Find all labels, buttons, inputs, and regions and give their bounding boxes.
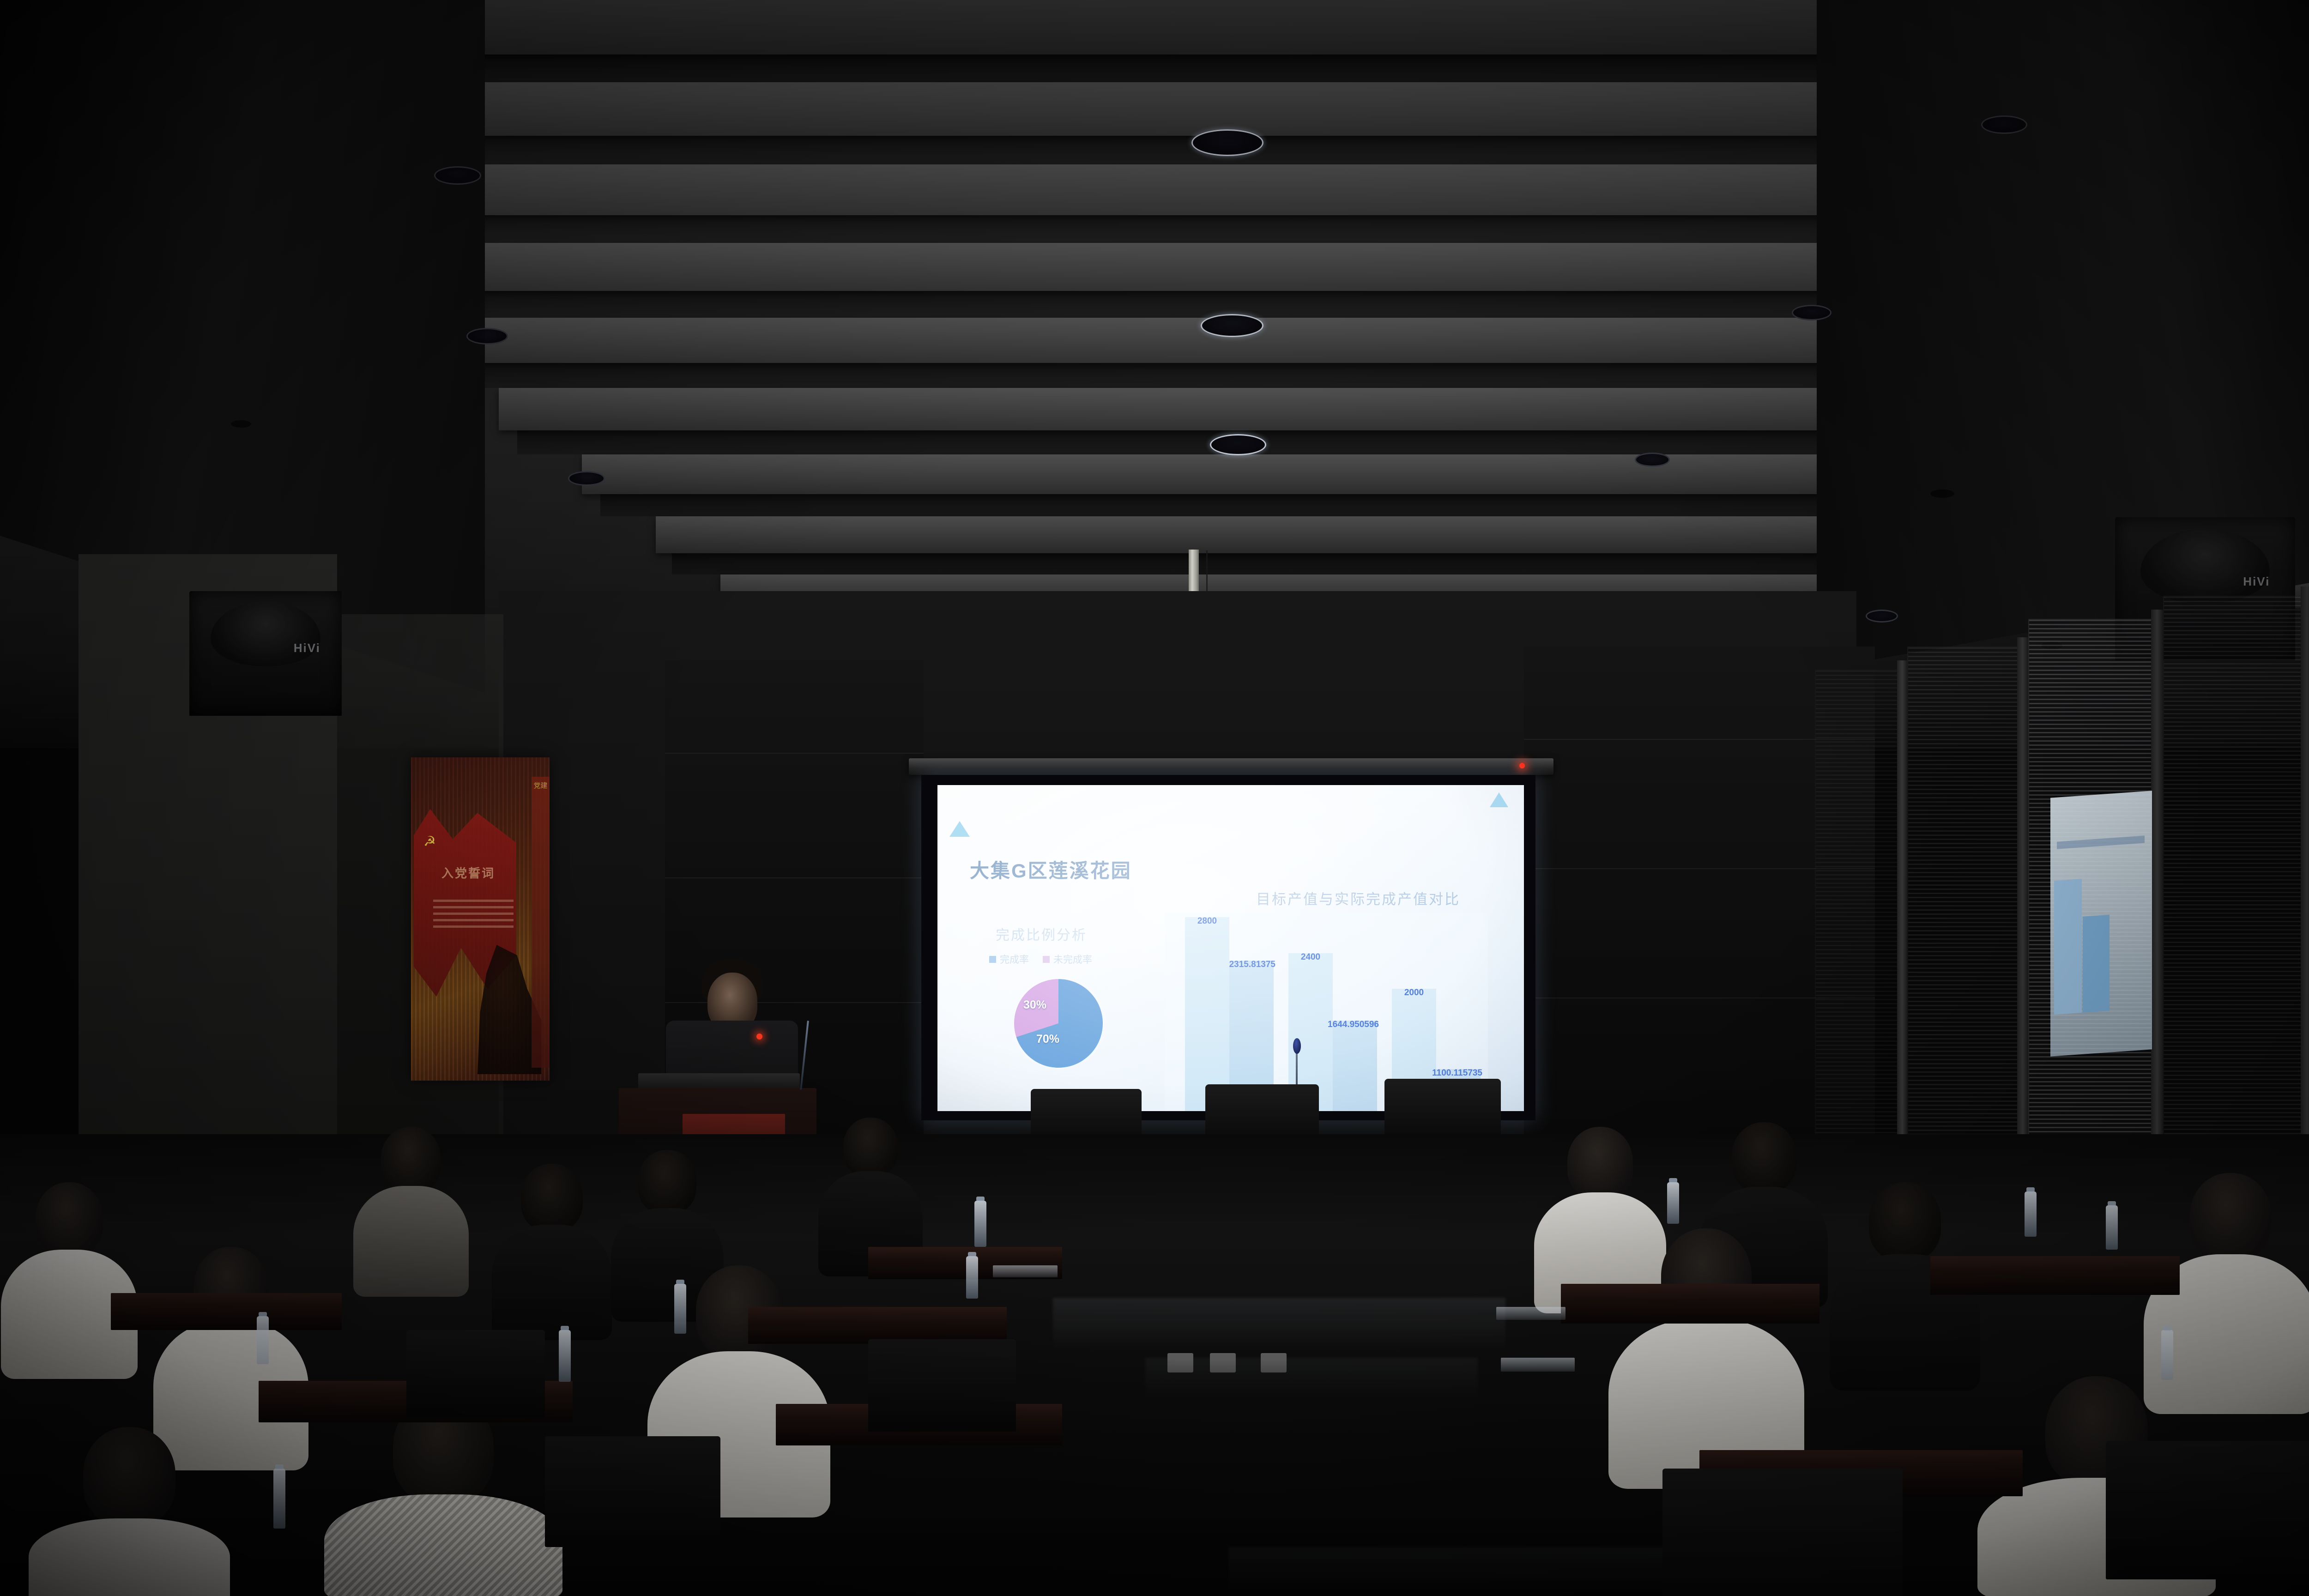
water-bottle[interactable] [1667,1182,1679,1224]
pie-chart [1014,979,1103,1068]
audience-chair[interactable] [545,1436,720,1547]
water-bottle[interactable] [559,1330,571,1382]
wall-panel-seam [665,1002,924,1003]
bottle-cap [976,1197,985,1201]
slide-decor-triangle-icon [949,821,970,837]
legend-swatch-remaining [1043,956,1050,963]
pie-legend-item-completed: 完成率 [989,952,1029,966]
water-bottle[interactable] [966,1256,978,1299]
bar-target: 2800 [1185,917,1229,1111]
audience-chair[interactable] [2106,1441,2309,1579]
ceiling-downlight-icon [1635,453,1670,467]
wall-panel-seam [665,877,924,878]
water-bottle[interactable] [674,1284,686,1334]
attendee-desk [111,1293,342,1330]
party-wall-poster: ☭ 入党誓词 党建 [411,757,550,1081]
slide-decor-triangle-icon [1490,792,1508,807]
floor-reflection [1053,1298,1505,1353]
attendee [0,1182,139,1376]
window-blinds[interactable] [1815,670,1900,1189]
water-bottle[interactable] [273,1469,285,1529]
water-bottle[interactable] [2025,1191,2037,1237]
attendee-desk [748,1307,1007,1344]
bar-value-label: 1644.950596 [1328,1020,1379,1030]
pie-legend-label-completed: 完成率 [1000,952,1029,966]
attendee [323,1395,563,1596]
attendee-torso [324,1494,562,1596]
bar-actual: 1644.950596 [1333,1021,1377,1111]
speaker-brand-label: HiVi [294,641,320,655]
window-blinds[interactable] [2163,596,2303,1203]
ceiling-downlight-icon [1210,434,1266,455]
floor-reflection [1145,1358,1478,1399]
attendee-desk [1561,1284,1819,1324]
handout-paper[interactable] [1501,1358,1575,1372]
window-mullion [1897,660,1907,1191]
head-table-chair[interactable] [1384,1079,1501,1136]
bar-value-label: 2315.81375 [1229,960,1275,970]
wall-panel-seam [665,753,924,754]
attendee-head [83,1427,175,1526]
bar-value-label: 1100.115735 [1432,1068,1482,1078]
chart-title: 目标产值与实际完成产值对比 [1256,888,1460,908]
floor-reflection [1228,1547,1736,1596]
window-mullion [2017,637,2028,1196]
presentation-slide: 大集G区莲溪花园 目标产值与实际完成产值对比 完成比例分析 完成率 未完成率 7… [937,785,1524,1111]
window-blinds[interactable] [1907,647,2020,1193]
conference-room-photo: HiVi HiVi ☭ 入党誓词 党建 大集G区莲溪花园 目标产值与实际完成产值 [0,0,2309,1596]
ceiling-downlight-icon [1191,129,1263,156]
bottle-cap [1669,1178,1677,1183]
audience-chair[interactable] [406,1330,545,1418]
attendee-head [381,1127,441,1192]
bottle-cap [2108,1201,2116,1206]
water-bottle[interactable] [257,1316,269,1364]
handout-paper[interactable] [1496,1307,1566,1320]
bar-value-label: 2000 [1404,988,1424,998]
pie-chart-legend: 完成率 未完成率 [989,952,1092,966]
legend-swatch-completed [989,956,996,963]
speaker-brand-label: HiVi [2243,574,2270,589]
slide-reflection-in-glass [2050,791,2152,1056]
window-mullion [2151,610,2163,1201]
pie-slice-label-completed: 70% [1036,1033,1059,1046]
ceiling-vent-icon [1930,490,1954,498]
bottle-cap [2163,1326,2171,1330]
attendee-head [2190,1173,2271,1261]
bar-group: 2800 2315.81375 [1185,917,1277,1111]
water-bottle[interactable] [2161,1330,2173,1380]
attendee [490,1164,614,1339]
speaker-cone-icon [2140,529,2270,603]
table-microphone-head-icon [1293,1038,1301,1054]
poster-sidebar-label: 党建 [532,777,550,1068]
attendee-head [843,1118,898,1177]
handout-paper[interactable] [993,1265,1058,1277]
poster-body-text [433,900,514,932]
pie-slice-label-remaining: 30% [1023,998,1046,1012]
water-bottle[interactable] [974,1201,986,1247]
ceiling-downlight-icon [1866,610,1898,623]
hammer-sickle-icon: ☭ [423,835,436,849]
bottle-cap [561,1326,569,1330]
ceiling-vent-icon [231,420,251,428]
attendee [351,1127,471,1293]
attendee-head [1869,1182,1941,1261]
wall-speaker-left: HiVi [189,591,342,716]
bar-group: 2400 1644.950596 [1288,917,1381,1111]
attendee [28,1427,231,1596]
pie-legend-item-remaining: 未完成率 [1043,952,1092,966]
head-table-chair[interactable] [1031,1089,1142,1141]
attendee-torso [492,1225,612,1340]
bottle-cap [275,1464,284,1469]
bottle-cap [259,1312,267,1317]
podium-mic-led-icon [756,1034,762,1040]
bottle-cap [968,1252,976,1257]
attendee [1607,1228,1806,1487]
bottle-cap [676,1280,684,1284]
ceiling-downlight-icon [1792,305,1831,320]
attendee-head [1567,1127,1633,1199]
bar-value-label: 2800 [1197,916,1217,926]
attendee-head [36,1182,103,1256]
speaker-cone-icon [211,601,320,666]
attendee-desk [1930,1256,2180,1295]
ceiling-downlight-icon [568,471,605,486]
bar-value-label: 2400 [1301,952,1320,962]
projection-screen-housing [909,758,1553,775]
attendee-head [1732,1122,1796,1192]
pie-chart-title: 完成比例分析 [996,924,1087,944]
head-table-chair[interactable] [1205,1084,1319,1139]
attendee-torso [29,1518,230,1596]
water-bottle[interactable] [2106,1205,2118,1250]
window-mullion [2301,586,2309,1205]
ceiling-downlight-icon [434,166,481,185]
screen-status-led-icon [1519,763,1525,768]
ceiling-downlight-icon [1981,115,2027,134]
pie-legend-label-remaining: 未完成率 [1053,952,1092,966]
attendee-head [638,1150,696,1214]
bottle-cap [2026,1187,2035,1192]
slide-title: 大集G区莲溪花园 [970,855,1132,883]
ceiling-downlight-icon [466,328,508,345]
floor-power-outlet[interactable] [1261,1353,1287,1372]
audience-chair[interactable] [1662,1469,1903,1596]
attendee-head [521,1164,583,1231]
poster-title: 入党誓词 [441,864,495,881]
floor-power-outlet[interactable] [1210,1353,1236,1372]
attendee-torso [353,1186,469,1297]
floor-power-outlet[interactable] [1167,1353,1193,1372]
ceiling-downlight-icon [1201,314,1263,337]
audience-chair[interactable] [868,1339,1016,1432]
